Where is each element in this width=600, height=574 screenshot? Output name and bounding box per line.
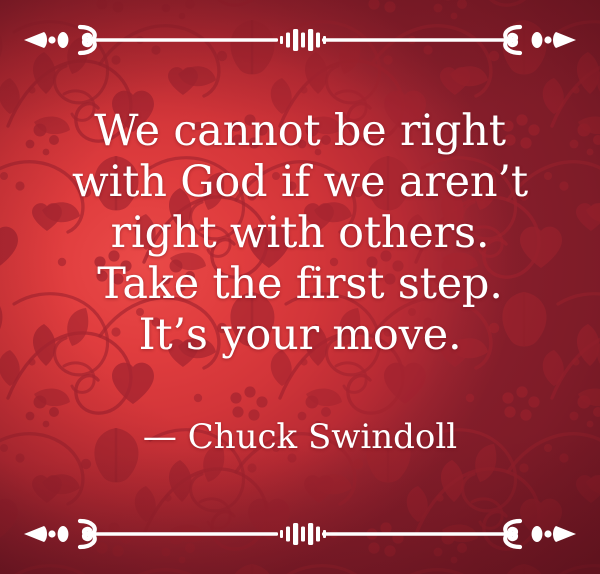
quote-line-5: It’s your move. [18, 310, 582, 361]
quote-line-3: right with others. [18, 208, 582, 259]
quote-line-4: Take the first step. [18, 259, 582, 310]
quote-card: We cannot be right with God if we aren’t… [0, 0, 600, 574]
quote-text: We cannot be right with God if we aren’t… [0, 106, 600, 361]
bottom-divider-ornament [22, 517, 578, 551]
quote-attribution: — Chuck Swindoll [0, 415, 600, 459]
quote-line-1: We cannot be right [18, 106, 582, 157]
quote-line-2: with God if we aren’t [18, 157, 582, 208]
top-divider-ornament [22, 23, 578, 57]
